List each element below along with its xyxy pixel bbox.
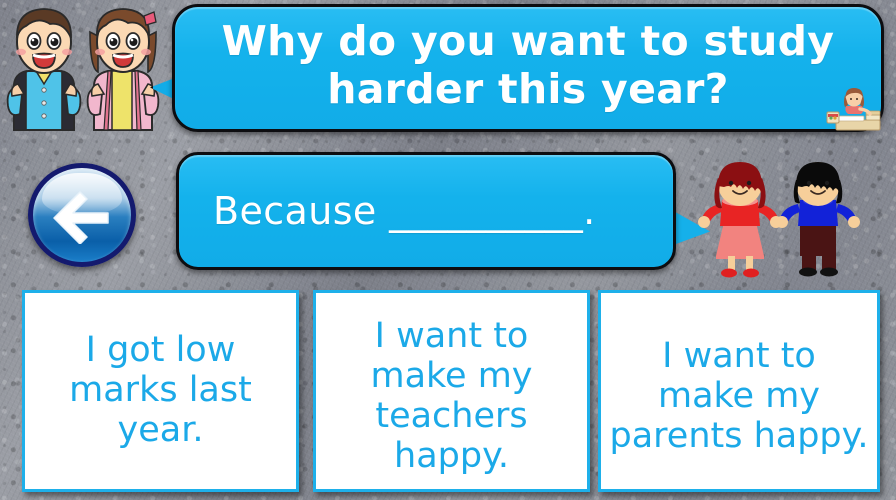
study-girl-illustration — [826, 84, 888, 132]
two-students-icon — [2, 2, 170, 132]
answer-prompt-text: Because __________. — [213, 189, 596, 233]
question-bubble: Why do you want to study harder this yea… — [172, 4, 884, 132]
students-illustration — [2, 2, 170, 132]
answer-option-1[interactable]: I got low marks last year. — [22, 290, 299, 492]
answer-prompt-bubble: Because __________. — [176, 152, 676, 270]
answer-option-2-text: I want to make my teachers happy. — [324, 317, 579, 477]
answer-option-3[interactable]: I want to make my parents happy. — [598, 290, 880, 492]
answer-option-2[interactable]: I want to make my teachers happy. — [313, 290, 590, 492]
arrow-left-icon — [50, 186, 114, 244]
two-kids-icon — [694, 160, 862, 278]
kids-illustration — [694, 160, 862, 278]
answer-option-3-text: I want to make my parents happy. — [609, 337, 869, 457]
question-text: Why do you want to study harder this yea… — [201, 18, 855, 114]
girl-studying-icon — [826, 84, 888, 132]
answer-option-1-text: I got low marks last year. — [33, 331, 288, 451]
back-button[interactable] — [28, 163, 136, 267]
